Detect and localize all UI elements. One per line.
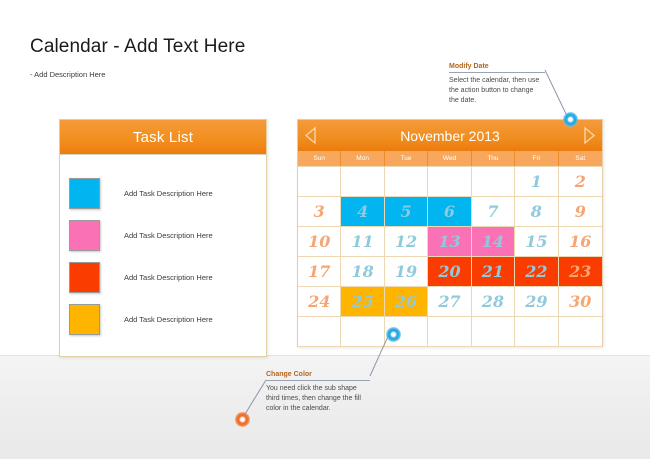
calendar-weekday-wed: Wed: [428, 151, 471, 166]
callout-change-color: Change Color You need click the sub shap…: [266, 371, 370, 414]
task-list-item[interactable]: Add Task Description Here: [60, 256, 266, 298]
task-list-item[interactable]: Add Task Description Here: [60, 214, 266, 256]
calendar-day-cell[interactable]: 25: [341, 287, 384, 317]
calendar-month-label: November 2013: [400, 128, 500, 144]
calendar-empty-cell: [298, 167, 341, 197]
calendar-day-cell[interactable]: 2: [559, 167, 602, 197]
calendar-day-cell[interactable]: 3: [298, 197, 341, 227]
calendar-day-cell[interactable]: 24: [298, 287, 341, 317]
calendar-day-cell[interactable]: 27: [428, 287, 471, 317]
calendar-title-bar: November 2013: [298, 120, 602, 151]
calendar-weekday-sun: Sun: [298, 151, 341, 166]
calendar-day-cell[interactable]: 20: [428, 257, 471, 287]
calendar-weekday-tue: Tue: [385, 151, 428, 166]
calendar-day-cell[interactable]: 22: [515, 257, 558, 287]
calendar-day-cell[interactable]: 19: [385, 257, 428, 287]
calendar-day-cell[interactable]: 14: [472, 227, 515, 257]
callout-modify-date: Modify Date Select the calendar, then us…: [449, 63, 545, 106]
calendar-day-cell[interactable]: 13: [428, 227, 471, 257]
calendar-empty-cell: [428, 167, 471, 197]
calendar-weekday-sat: Sat: [559, 151, 602, 166]
callout-modify-date-body: Select the calendar, then use the action…: [449, 73, 545, 106]
calendar-day-cell[interactable]: 17: [298, 257, 341, 287]
task-item-label: Add Task Description Here: [124, 189, 213, 198]
calendar-empty-cell: [472, 317, 515, 347]
calendar-day-cell[interactable]: 4: [341, 197, 384, 227]
change-color-anchor-handle[interactable]: [235, 412, 250, 427]
calendar-day-cell[interactable]: 8: [515, 197, 558, 227]
task-list-panel: Task List Add Task Description HereAdd T…: [59, 119, 267, 357]
change-color-handle[interactable]: [386, 327, 401, 342]
task-list-rows: Add Task Description HereAdd Task Descri…: [60, 155, 266, 340]
calendar-empty-cell: [385, 167, 428, 197]
calendar-empty-cell: [428, 317, 471, 347]
calendar-weekday-thu: Thu: [472, 151, 515, 166]
chevron-left-icon[interactable]: [304, 126, 318, 145]
calendar-empty-cell: [559, 317, 602, 347]
calendar-weekday-fri: Fri: [515, 151, 558, 166]
task-list-item[interactable]: Add Task Description Here: [60, 172, 266, 214]
task-color-swatch[interactable]: [69, 220, 100, 251]
calendar-day-cell[interactable]: 29: [515, 287, 558, 317]
calendar-day-cell[interactable]: 12: [385, 227, 428, 257]
calendar-empty-cell: [472, 167, 515, 197]
calendar-day-cell[interactable]: 16: [559, 227, 602, 257]
task-list-item[interactable]: Add Task Description Here: [60, 298, 266, 340]
calendar-day-cell[interactable]: 1: [515, 167, 558, 197]
task-color-swatch[interactable]: [69, 304, 100, 335]
task-item-label: Add Task Description Here: [124, 231, 213, 240]
calendar-weekday-mon: Mon: [341, 151, 384, 166]
task-list-title: Task List: [133, 129, 193, 146]
calendar-day-cell[interactable]: 23: [559, 257, 602, 287]
chevron-right-icon[interactable]: [582, 126, 596, 145]
calendar-empty-cell: [298, 317, 341, 347]
task-item-label: Add Task Description Here: [124, 315, 213, 324]
callout-change-color-title: Change Color: [266, 371, 370, 381]
calendar-day-cell[interactable]: 5: [385, 197, 428, 227]
calendar-empty-cell: [515, 317, 558, 347]
task-color-swatch[interactable]: [69, 178, 100, 209]
calendar-empty-cell: [341, 317, 384, 347]
task-item-label: Add Task Description Here: [124, 273, 213, 282]
callout-modify-date-title: Modify Date: [449, 63, 545, 73]
page-subtitle: - Add Description Here: [30, 70, 105, 79]
calendar-day-cell[interactable]: 30: [559, 287, 602, 317]
calendar-weekday-header: SunMonTueWedThuFriSat: [298, 151, 602, 166]
calendar-day-cell[interactable]: 26: [385, 287, 428, 317]
calendar-day-cell[interactable]: 6: [428, 197, 471, 227]
calendar-day-cell[interactable]: 28: [472, 287, 515, 317]
calendar-day-cell[interactable]: 11: [341, 227, 384, 257]
calendar-day-cell[interactable]: 9: [559, 197, 602, 227]
callout-change-color-body: You need click the sub shape third times…: [266, 381, 370, 414]
modify-date-handle[interactable]: [563, 112, 578, 127]
task-list-header: Task List: [60, 120, 266, 155]
calendar-day-cell[interactable]: 18: [341, 257, 384, 287]
page-title: Calendar - Add Text Here: [30, 36, 245, 58]
calendar-day-cell[interactable]: 15: [515, 227, 558, 257]
task-color-swatch[interactable]: [69, 262, 100, 293]
calendar-day-grid: 1234567891011121314151617181920212223242…: [298, 166, 602, 347]
calendar-day-cell[interactable]: 7: [472, 197, 515, 227]
calendar-day-cell[interactable]: 10: [298, 227, 341, 257]
calendar-empty-cell: [341, 167, 384, 197]
calendar-widget: November 2013 SunMonTueWedThuFriSat 1234…: [297, 119, 603, 347]
calendar-day-cell[interactable]: 21: [472, 257, 515, 287]
